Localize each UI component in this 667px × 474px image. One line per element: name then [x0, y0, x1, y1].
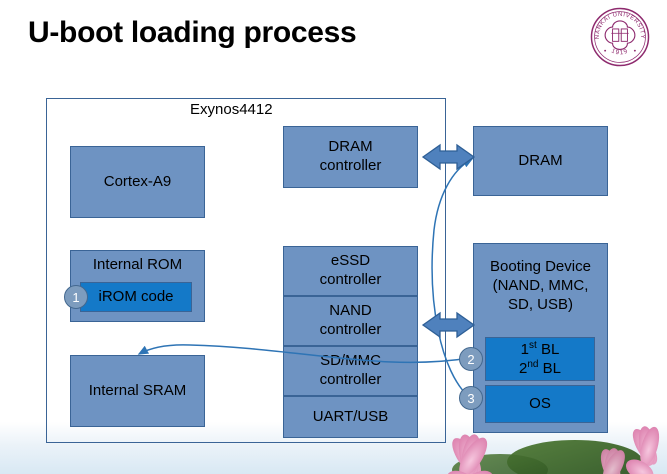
block-label-line2: controller: [320, 371, 382, 390]
step-marker-3: 3: [459, 386, 483, 410]
chip-bootloaders: 1st BL 2nd BL: [485, 337, 595, 381]
block-internal-sram: Internal SRAM: [70, 355, 205, 427]
block-essd-controller: eSSD controller: [283, 246, 418, 296]
block-label: DRAM: [518, 152, 562, 171]
step-marker-label: 1: [72, 290, 79, 305]
chip-label: iROM code: [98, 288, 173, 306]
block-label-line1: DRAM: [328, 138, 372, 157]
block-label-line1: SD/MMC: [320, 352, 381, 371]
slide-canvas: U-boot loading process NANKAI UNIVERSITY…: [0, 0, 667, 474]
page-title: U-boot loading process: [28, 16, 356, 50]
soc-label: Exynos4412: [190, 101, 273, 118]
chip-label-line1: 1st BL: [521, 340, 560, 359]
svg-text:NANKAI UNIVERSITY: NANKAI UNIVERSITY: [595, 12, 645, 39]
block-label-line2: controller: [320, 157, 382, 176]
block-label-line1: eSSD: [331, 252, 370, 271]
chip-label-line2: 2nd BL: [519, 359, 561, 378]
block-uart-usb: UART/USB: [283, 396, 418, 438]
step-marker-label: 2: [467, 352, 474, 367]
block-sdmmc-controller: SD/MMC controller: [283, 346, 418, 396]
block-dram: DRAM: [473, 126, 608, 196]
block-label-line2: controller: [320, 321, 382, 340]
block-label: Internal ROM: [93, 256, 182, 275]
block-label-line1: Booting Device: [490, 258, 591, 277]
nankai-university-seal-icon: NANKAI UNIVERSITY 1919: [589, 6, 651, 68]
step-marker-label: 3: [467, 391, 474, 406]
block-label-line2: controller: [320, 271, 382, 290]
svg-text:1919: 1919: [610, 47, 630, 56]
chip-os: OS: [485, 385, 595, 423]
block-label-line3: SD, USB): [508, 296, 573, 315]
block-label: UART/USB: [313, 408, 389, 427]
block-cortex-a9: Cortex-A9: [70, 146, 205, 218]
step-marker-2: 2: [459, 347, 483, 371]
block-nand-controller: NAND controller: [283, 296, 418, 346]
chip-irom-code: iROM code: [80, 282, 192, 312]
block-label: Internal SRAM: [89, 382, 187, 401]
block-label: Cortex-A9: [104, 173, 172, 192]
block-dram-controller: DRAM controller: [283, 126, 418, 188]
block-label-line1: NAND: [329, 302, 372, 321]
chip-label: OS: [529, 395, 551, 413]
block-label-line2: (NAND, MMC,: [493, 277, 589, 296]
step-marker-1: 1: [64, 285, 88, 309]
